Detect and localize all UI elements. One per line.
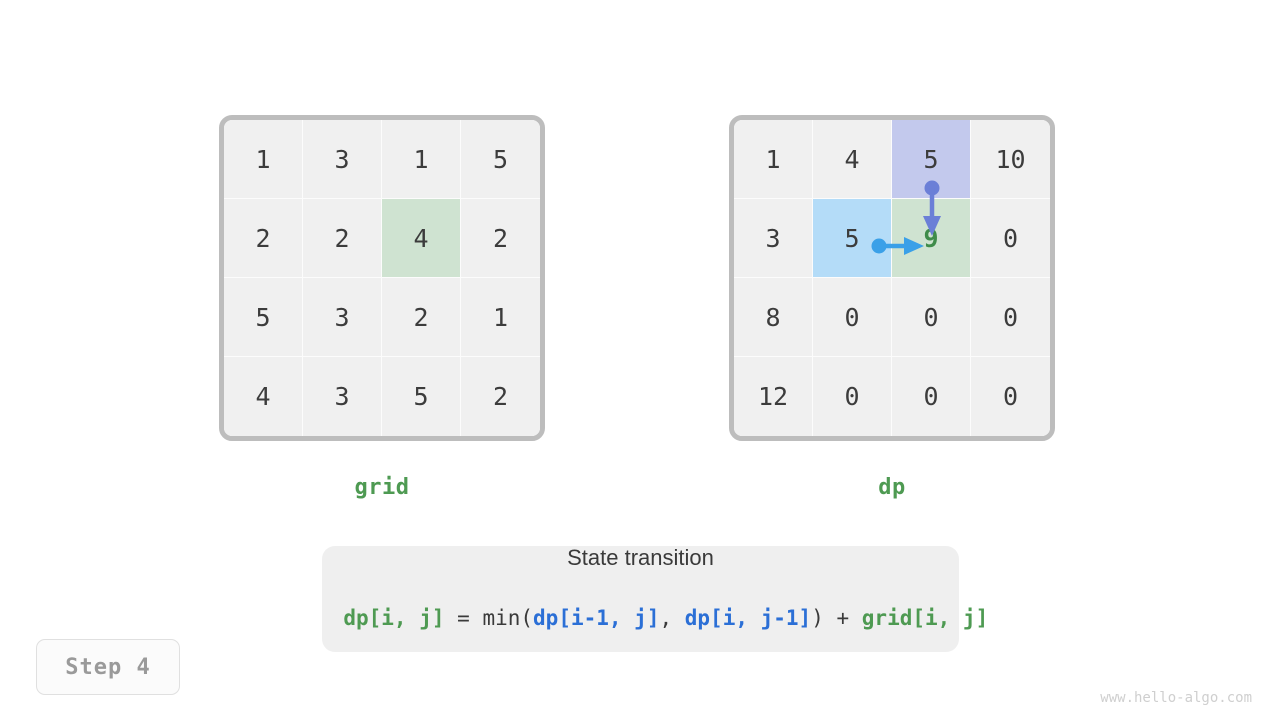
dp-matrix-container: 1 4 5 10 3 5 9 0 8 0 0 0 12 0 0 0 xyxy=(729,115,1055,500)
dp-cell-3-1: 0 xyxy=(813,357,892,436)
formula-token-min-open: min( xyxy=(482,606,533,630)
grid-cell-2-2: 2 xyxy=(382,278,461,357)
grid-cell-3-3: 2 xyxy=(461,357,540,436)
grid-cell-1-0: 2 xyxy=(224,199,303,278)
dp-cell-0-2: 5 xyxy=(892,120,971,199)
dp-cell-3-3: 0 xyxy=(971,357,1050,436)
formula-expression: dp[i, j] = min(dp[i-1, j], dp[i, j-1]) +… xyxy=(293,582,988,654)
grid-cell-2-3: 1 xyxy=(461,278,540,357)
formula-token-grid-ij: grid[i, j] xyxy=(862,606,988,630)
dp-cell-2-1: 0 xyxy=(813,278,892,357)
dp-cell-2-3: 0 xyxy=(971,278,1050,357)
grid-cell-1-2: 4 xyxy=(382,199,461,278)
formula-token-dp-ij: dp[i, j] xyxy=(343,606,444,630)
step-badge: Step 4 xyxy=(36,639,180,695)
grid-cell-0-2: 1 xyxy=(382,120,461,199)
dp-cell-2-2: 0 xyxy=(892,278,971,357)
dp-cell-1-3: 0 xyxy=(971,199,1050,278)
grid-cell-0-1: 3 xyxy=(303,120,382,199)
formula-title: State transition xyxy=(567,545,714,571)
dp-cell-1-2: 9 xyxy=(892,199,971,278)
dp-cell-3-0: 12 xyxy=(734,357,813,436)
grid-cell-3-2: 5 xyxy=(382,357,461,436)
dp-cell-0-0: 1 xyxy=(734,120,813,199)
dp-matrix: 1 4 5 10 3 5 9 0 8 0 0 0 12 0 0 0 xyxy=(729,115,1055,441)
dp-matrix-label: dp xyxy=(878,475,906,500)
formula-token-dp-up: dp[i-1, j] xyxy=(533,606,659,630)
watermark: www.hello-algo.com xyxy=(1100,690,1252,706)
dp-cell-1-1: 5 xyxy=(813,199,892,278)
grid-cell-1-3: 2 xyxy=(461,199,540,278)
grid-cell-2-1: 3 xyxy=(303,278,382,357)
dp-cell-0-1: 4 xyxy=(813,120,892,199)
grid-cell-3-1: 3 xyxy=(303,357,382,436)
grid-cell-1-1: 2 xyxy=(303,199,382,278)
grid-cell-0-0: 1 xyxy=(224,120,303,199)
grid-cell-2-0: 5 xyxy=(224,278,303,357)
formula-token-comma: , xyxy=(659,606,684,630)
formula-token-equals: = xyxy=(445,606,483,630)
grid-matrix: 1 3 1 5 2 2 4 2 5 3 2 1 4 3 5 2 xyxy=(219,115,545,441)
dp-cell-2-0: 8 xyxy=(734,278,813,357)
grid-cell-3-0: 4 xyxy=(224,357,303,436)
dp-cell-1-0: 3 xyxy=(734,199,813,278)
grid-matrix-container: 1 3 1 5 2 2 4 2 5 3 2 1 4 3 5 2 grid xyxy=(219,115,545,500)
formula-token-close-plus: ) + xyxy=(811,606,862,630)
grid-matrix-label: grid xyxy=(355,475,410,500)
grid-cell-0-3: 5 xyxy=(461,120,540,199)
formula-token-dp-left: dp[i, j-1] xyxy=(685,606,811,630)
dp-cell-0-3: 10 xyxy=(971,120,1050,199)
dp-cell-3-2: 0 xyxy=(892,357,971,436)
state-transition-panel: State transition dp[i, j] = min(dp[i-1, … xyxy=(322,546,959,652)
